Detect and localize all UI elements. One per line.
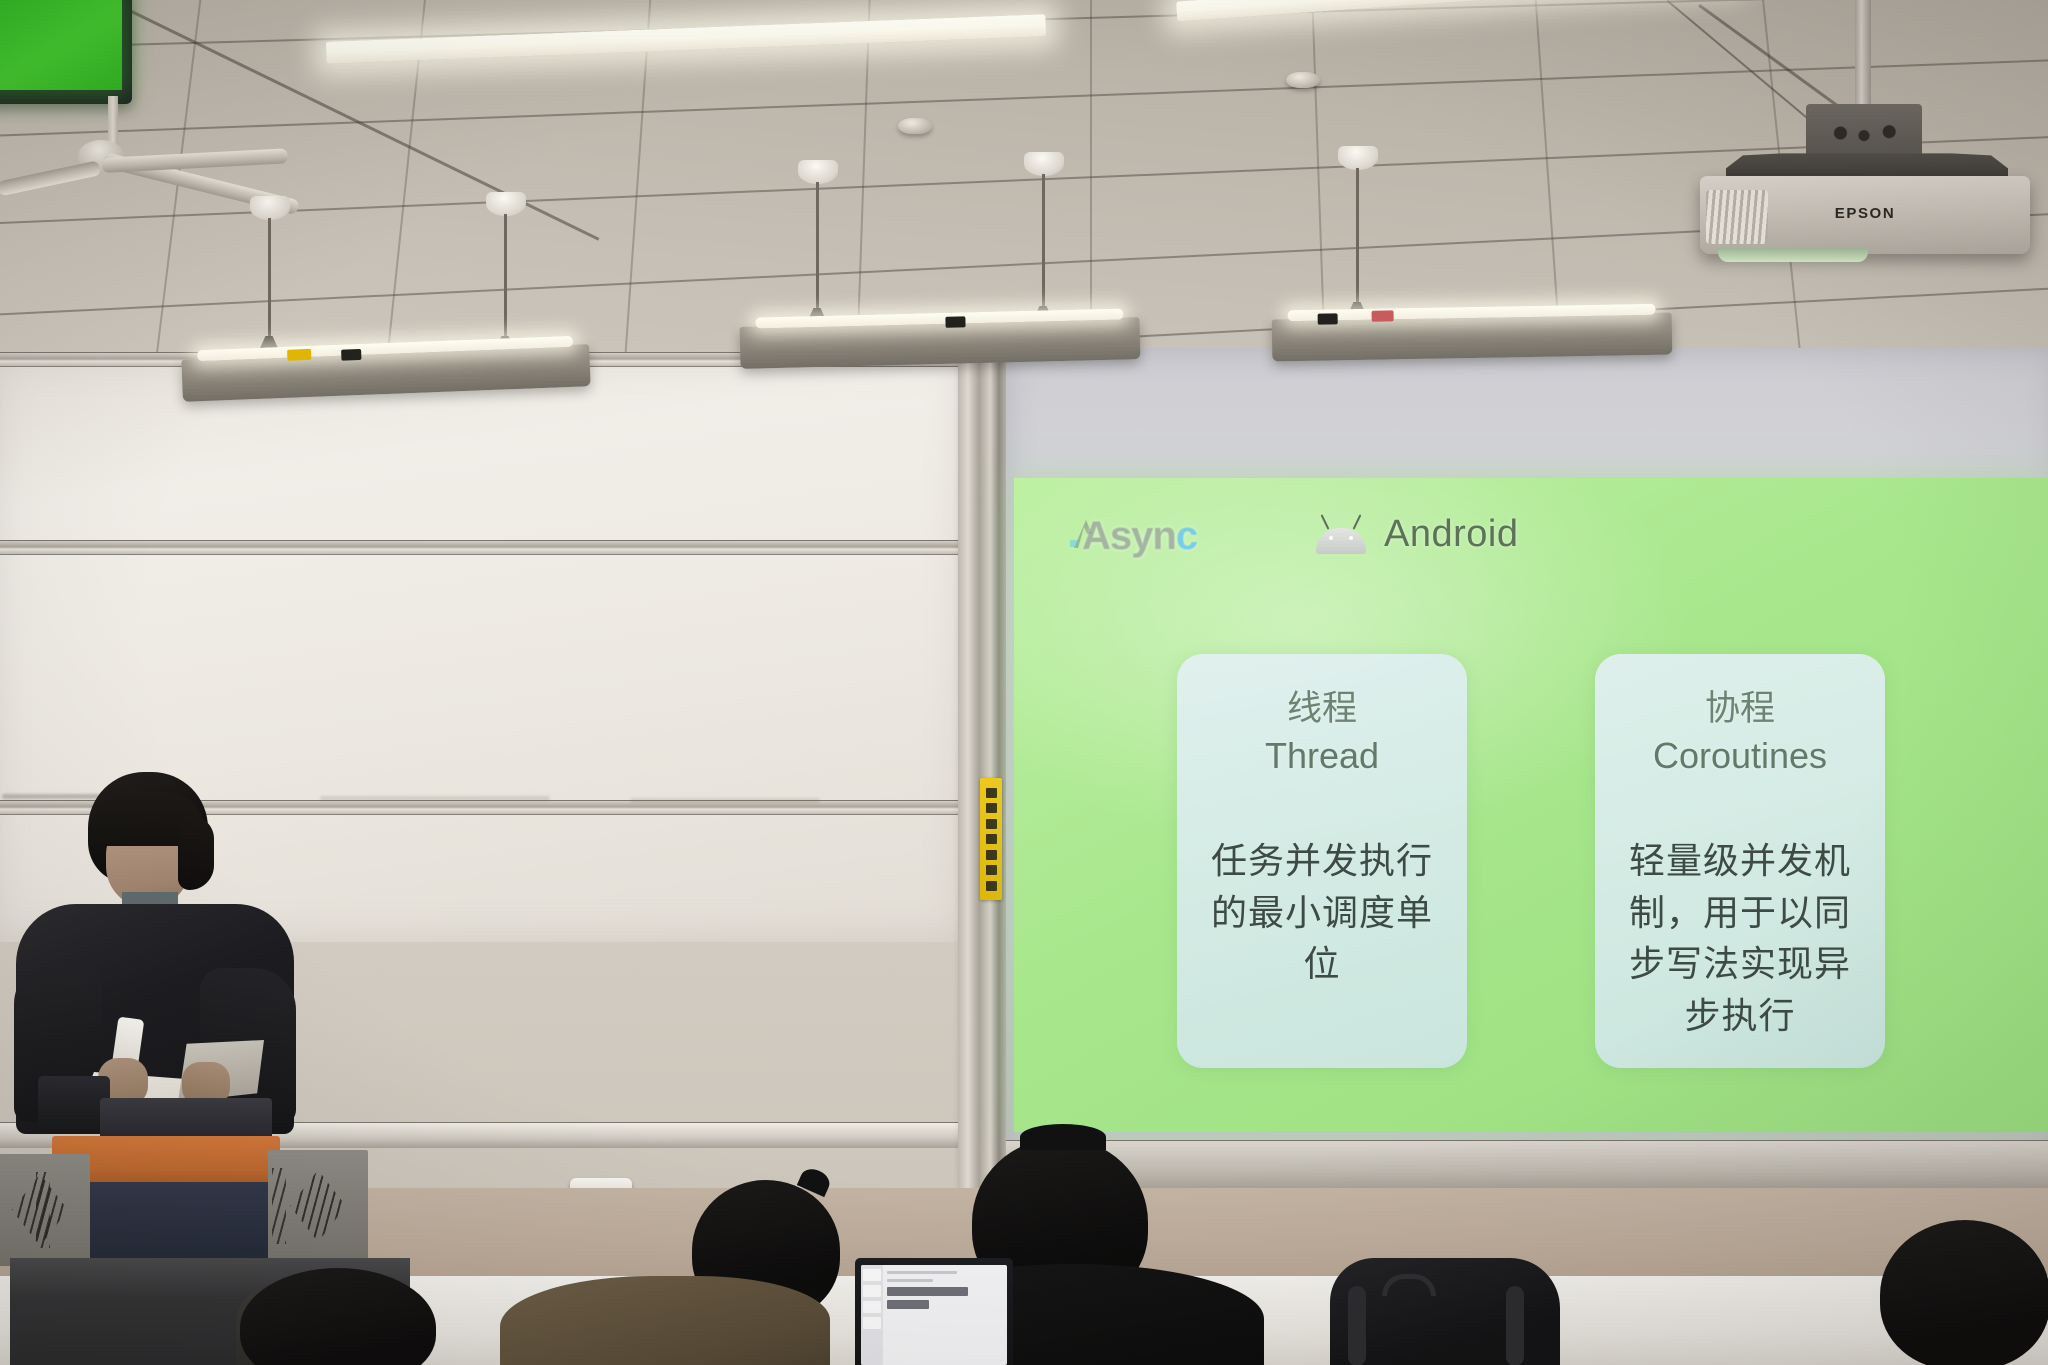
light-cord-5 <box>1356 168 1359 312</box>
projector: EPSON <box>1700 176 2030 254</box>
card-thread-title-cn: 线程 <box>1195 688 1449 731</box>
ceiling-tube-light <box>326 14 1046 64</box>
android-brand: Android <box>1312 513 1518 556</box>
laptop-screen <box>861 1265 1007 1365</box>
card-coroutines-title-en: Coroutines <box>1613 733 1867 779</box>
fan-blade-2 <box>102 148 289 173</box>
student-coat <box>500 1276 830 1365</box>
student-head-4 <box>240 1268 436 1365</box>
card-coroutines: 协程 Coroutines 轻量级并发机制，用于以同步写法实现异步执行 <box>1595 654 1885 1068</box>
backpack-handle <box>1382 1274 1436 1296</box>
android-robot-icon <box>1312 514 1370 554</box>
backpack-strap-left <box>1348 1286 1366 1365</box>
card-thread-body: 任务并发执行的最小调度单位 <box>1195 835 1449 990</box>
student-far-left <box>240 1268 440 1365</box>
light-ceiling-mount <box>250 196 290 220</box>
light-ceiling-mount-2 <box>486 192 526 216</box>
smoke-detector-2 <box>1286 72 1320 88</box>
light-ceiling-mount-5 <box>1338 146 1378 170</box>
android-label: Android <box>1384 513 1518 556</box>
student-hair-tuft-2 <box>1020 1124 1106 1150</box>
lectern-side-panel-right <box>268 1150 368 1262</box>
async-logo: Async <box>1070 508 1278 560</box>
projector-mount-rod <box>1855 0 1871 118</box>
presenter-hair-side <box>178 816 214 890</box>
light-cord <box>268 218 271 346</box>
async-logo-text: Async <box>1082 514 1197 559</box>
card-thread-title-en: Thread <box>1195 733 1449 779</box>
green-display-screen <box>0 0 122 90</box>
yellow-warning-sticker <box>980 778 1002 900</box>
whiteboard-smudge-3 <box>630 798 820 803</box>
light-ceiling-mount-4 <box>1024 152 1064 176</box>
fan-blade-3 <box>0 160 102 196</box>
student-right <box>1880 1220 2048 1365</box>
backpack-on-desk <box>1330 1258 1560 1365</box>
card-coroutines-body: 轻量级并发机制，用于以同步写法实现异步执行 <box>1613 835 1867 1042</box>
laptop-sidebar <box>861 1265 883 1365</box>
async-logo-word: Async <box>1082 514 1197 558</box>
lectern-front-panel <box>62 1182 270 1258</box>
ceiling-tube-light-2 <box>1176 0 1736 22</box>
slide-header: Async Android <box>1070 508 1518 560</box>
projector-brand-label: EPSON <box>1700 205 2030 222</box>
smoke-detector <box>898 118 932 134</box>
light-cord-3 <box>816 182 819 318</box>
slide-cards: 线程 Thread 任务并发执行的最小调度单位 协程 Coroutines 轻量… <box>1014 654 2048 1068</box>
slide-content: Async Android 线程 Thread 任务并发执 <box>1014 478 2048 1132</box>
light-cord-4 <box>1042 174 1045 316</box>
card-coroutines-title-cn: 协程 <box>1613 688 1867 731</box>
open-laptop[interactable] <box>855 1258 1013 1365</box>
laptop-content <box>883 1265 1007 1365</box>
green-display <box>0 0 132 104</box>
whiteboard-rail-mid <box>0 540 965 555</box>
suspended-light-bar-3 <box>1272 313 1673 362</box>
lectern-side-panel-left <box>0 1154 90 1266</box>
whiteboard-smudge-2 <box>320 796 550 801</box>
student-head-3 <box>1880 1220 2048 1365</box>
light-cord-2 <box>504 214 507 346</box>
lecture-hall-photo: EPSON Async <box>0 0 2048 1365</box>
card-thread: 线程 Thread 任务并发执行的最小调度单位 <box>1177 654 1467 1068</box>
backpack-strap-right <box>1506 1286 1524 1365</box>
light-ceiling-mount-3 <box>798 160 838 184</box>
projector-lens-glow <box>1718 248 1868 262</box>
